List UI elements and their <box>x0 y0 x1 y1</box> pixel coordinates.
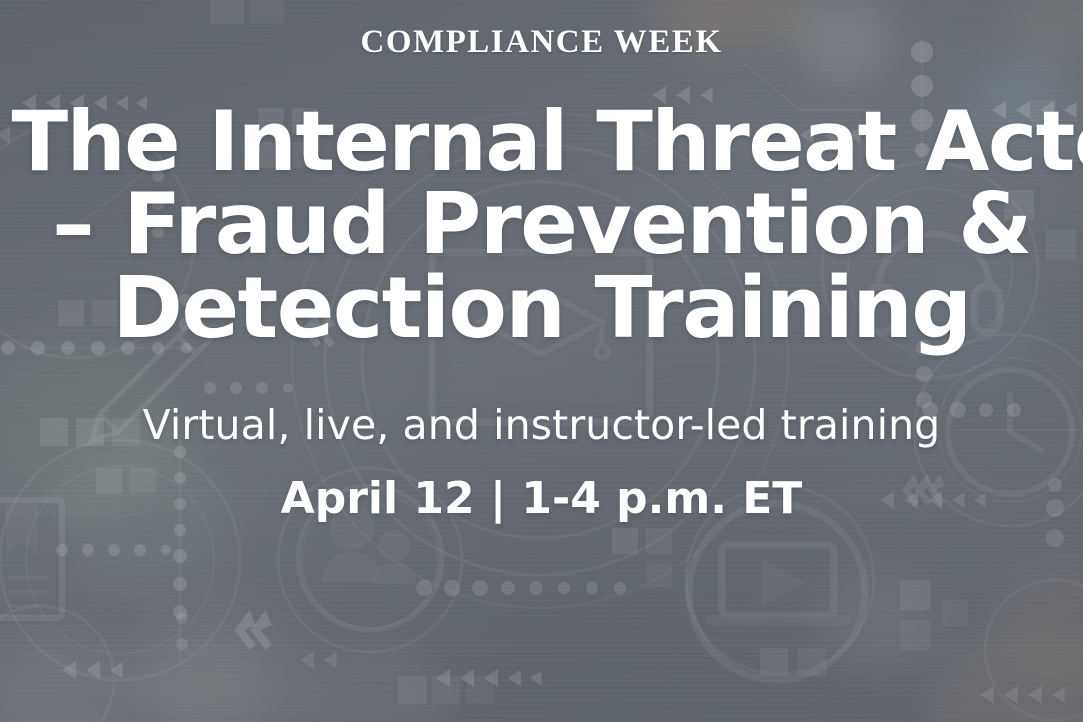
page-title-line-1: The Internal Threat Actor <box>12 101 1072 183</box>
compliance-week-logo: COMPLIANCE WEEK <box>360 26 722 59</box>
page-title-line-2: – Fraud Prevention & <box>12 183 1072 267</box>
banner-content: COMPLIANCE WEEK The Internal Threat Acto… <box>0 0 1083 722</box>
event-subtitle: Virtual, live, and instructor-led traini… <box>143 403 941 448</box>
event-datetime: April 12 | 1-4 p.m. ET <box>281 475 803 523</box>
page-title: The Internal Threat Actor – Fraud Preven… <box>12 101 1072 351</box>
page-title-line-3: Detection Training <box>12 267 1072 351</box>
event-banner: COMPLIANCE WEEK The Internal Threat Acto… <box>0 0 1083 722</box>
